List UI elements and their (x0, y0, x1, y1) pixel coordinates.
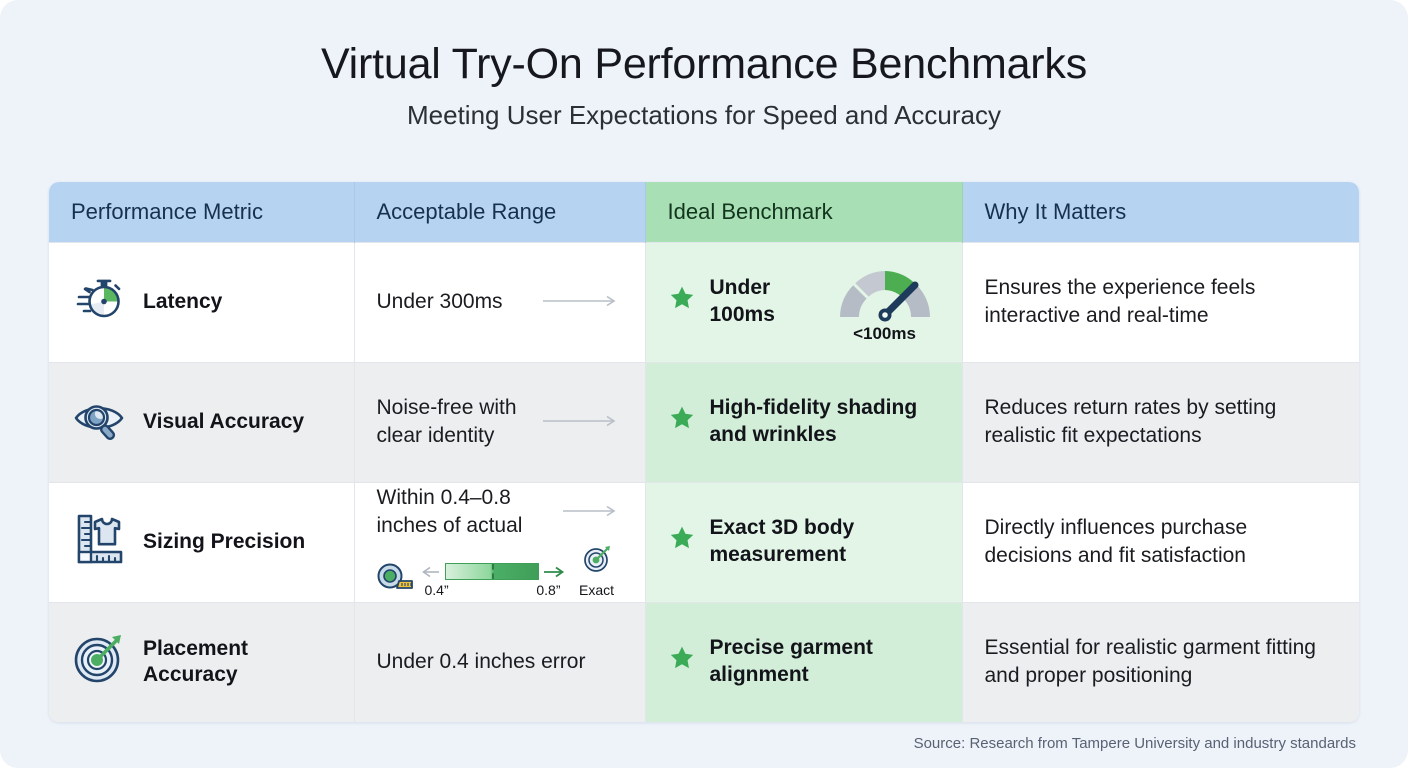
metric-content: Sizing Precision (71, 510, 332, 574)
arrow-right-icon (541, 288, 623, 316)
column-header-performance-metric: Performance Metric (49, 182, 354, 242)
why-text: Directly influences purchase decisions a… (985, 514, 1338, 570)
arrow-right-icon (541, 408, 623, 436)
benchmark-table: Performance Metric Acceptable Range Idea… (49, 182, 1359, 722)
range-tick-labels: 0.4” 0.8” (421, 581, 565, 599)
page-title: Virtual Try-On Performance Benchmarks (0, 40, 1408, 89)
why-text: Ensures the experience feels interactive… (985, 274, 1338, 330)
metric-content: Placement Accuracy (71, 630, 332, 694)
table-header: Performance Metric Acceptable Range Idea… (49, 182, 1359, 242)
range-text: Under 300ms (377, 288, 503, 316)
range-content: Noise-free with clear identity (377, 394, 623, 449)
range-cell: Under 0.4 inches error (354, 602, 645, 722)
why-cell: Directly influences purchase decisions a… (962, 482, 1359, 602)
ideal-text: Under 100ms (710, 275, 816, 329)
arrow-right-icon (561, 498, 623, 526)
ideal-text: High-fidelity shading and wrinkles (710, 395, 940, 449)
ideal-text: Exact 3D body measurement (710, 515, 940, 569)
page-subtitle: Meeting User Expectations for Speed and … (0, 100, 1408, 131)
why-cell: Essential for realistic garment fitting … (962, 602, 1359, 722)
star-icon (668, 284, 696, 320)
ideal-content: Exact 3D body measurement (668, 515, 940, 569)
infographic-page: Virtual Try-On Performance Benchmarks Me… (0, 0, 1408, 768)
metric-label: Sizing Precision (143, 529, 305, 555)
tick-label-min: 0.4” (425, 581, 449, 599)
range-cell: Within 0.4–0.8 inches of actual (354, 482, 645, 602)
ideal-content: Precise garment alignment (668, 635, 940, 689)
metric-cell: Placement Accuracy (49, 602, 354, 722)
table-row: Sizing Precision Within 0.4–0.8 inches o… (49, 482, 1359, 602)
ideal-content: High-fidelity shading and wrinkles (668, 395, 940, 449)
table-body: Latency Under 300ms (49, 242, 1359, 722)
stopwatch-icon (71, 270, 127, 334)
metric-label: Latency (143, 289, 222, 315)
range-content: Under 300ms (377, 288, 623, 316)
ideal-cell: Precise garment alignment (645, 602, 962, 722)
arrow-right-green-icon (543, 565, 565, 579)
table-row: Placement Accuracy Under 0.4 inches erro… (49, 602, 1359, 722)
range-content: Within 0.4–0.8 inches of actual (377, 484, 623, 600)
range-text: Within 0.4–0.8 inches of actual (377, 484, 553, 539)
range-content: Under 0.4 inches error (377, 648, 623, 676)
why-cell: Ensures the experience feels interactive… (962, 242, 1359, 362)
ideal-content: Under 100ms (668, 259, 940, 345)
table-header-row: Performance Metric Acceptable Range Idea… (49, 182, 1359, 242)
metric-cell: Visual Accuracy (49, 362, 354, 482)
range-text: Under 0.4 inches error (377, 648, 586, 676)
range-cell: Noise-free with clear identity (354, 362, 645, 482)
range-text: Noise-free with clear identity (377, 394, 533, 449)
ideal-cell: Exact 3D body measurement (645, 482, 962, 602)
metric-cell: Sizing Precision (49, 482, 354, 602)
table-row: Visual Accuracy Noise-free with clear id… (49, 362, 1359, 482)
latency-gauge: <100ms (830, 259, 940, 345)
metric-cell: Latency (49, 242, 354, 362)
target-dart-icon (71, 630, 127, 694)
why-cell: Reduces return rates by setting realisti… (962, 362, 1359, 482)
ideal-cell: High-fidelity shading and wrinkles (645, 362, 962, 482)
ideal-text: Precise garment alignment (710, 635, 940, 689)
metric-label: Visual Accuracy (143, 409, 304, 435)
range-bar-group: 0.4” 0.8” (421, 563, 565, 599)
range-top: Within 0.4–0.8 inches of actual (377, 484, 623, 539)
column-header-acceptable-range: Acceptable Range (354, 182, 645, 242)
eye-magnifier-icon (71, 390, 127, 454)
ruler-shirt-icon (71, 510, 127, 574)
measuring-tape-icon (377, 562, 415, 600)
column-header-ideal-benchmark: Ideal Benchmark (645, 182, 962, 242)
source-note: Source: Research from Tampere University… (914, 735, 1356, 752)
metric-label: Placement Accuracy (143, 636, 332, 689)
arrow-left-icon (421, 565, 441, 579)
sizing-scale-widget: 0.4” 0.8” (377, 544, 623, 600)
metric-content: Visual Accuracy (71, 390, 332, 454)
range-cell: Under 300ms (354, 242, 645, 362)
tick-label-max: 0.8” (536, 581, 560, 599)
benchmark-table-container: Performance Metric Acceptable Range Idea… (49, 182, 1359, 722)
why-text: Essential for realistic garment fitting … (985, 634, 1338, 690)
gauge-label: <100ms (853, 323, 916, 345)
column-header-why-it-matters: Why It Matters (962, 182, 1359, 242)
exact-target-group: Exact (571, 544, 623, 600)
star-icon (668, 404, 696, 440)
table-row: Latency Under 300ms (49, 242, 1359, 362)
star-icon (668, 644, 696, 680)
metric-content: Latency (71, 270, 332, 334)
range-bar-row (421, 563, 565, 580)
ideal-cell: Under 100ms (645, 242, 962, 362)
star-icon (668, 524, 696, 560)
exact-label: Exact (571, 581, 623, 599)
target-dart-small-icon (582, 544, 612, 582)
why-text: Reduces return rates by setting realisti… (985, 394, 1338, 450)
tolerance-gradient-bar (445, 563, 539, 580)
